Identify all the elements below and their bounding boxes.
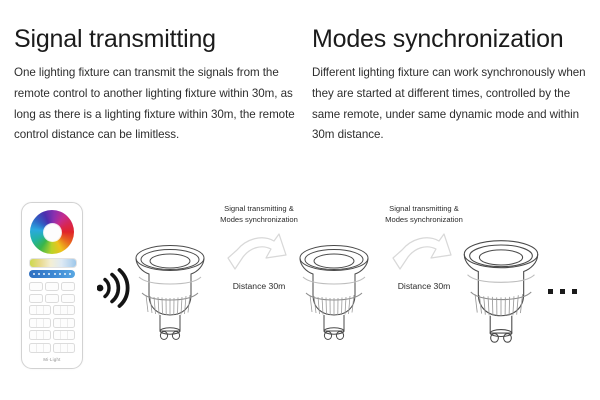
remote-control: Mi·Light bbox=[21, 202, 83, 369]
arrow-label-line2: Modes synchronization bbox=[207, 214, 311, 225]
body-text-modes-synchronization: Different lighting fixture can work sync… bbox=[312, 63, 600, 146]
double-arc-arrow-icon bbox=[207, 231, 311, 278]
color-temperature-slider-icon bbox=[29, 258, 77, 268]
keypad-button bbox=[45, 294, 59, 303]
section-signal-transmitting: Signal transmitting One lighting fixture… bbox=[14, 26, 296, 146]
section-modes-synchronization: Modes synchronization Different lighting… bbox=[312, 26, 600, 146]
color-wheel-center-button bbox=[49, 229, 58, 238]
keypad-zone-button bbox=[53, 343, 75, 353]
keypad-button bbox=[61, 294, 75, 303]
remote-keypad bbox=[28, 282, 76, 355]
keypad-button bbox=[29, 294, 43, 303]
gu10-spot-bulb-1 bbox=[133, 243, 207, 343]
arrow-group-1: Signal transmitting & Modes synchronizat… bbox=[207, 203, 311, 291]
keypad-zone-button bbox=[53, 305, 75, 315]
diagram-canvas: Signal transmitting One lighting fixture… bbox=[0, 0, 600, 400]
page-title-signal-transmitting: Signal transmitting bbox=[14, 26, 296, 52]
keypad-button bbox=[45, 282, 59, 291]
gu10-spot-bulb-2 bbox=[297, 243, 371, 343]
keypad-zone-button bbox=[29, 343, 51, 353]
keypad-zone-button bbox=[29, 305, 51, 315]
keypad-zone-button bbox=[53, 330, 75, 340]
arrow-label-line1: Signal transmitting & bbox=[207, 203, 311, 214]
gu10-spot-bulb-3 bbox=[461, 238, 541, 346]
keypad-zone-button bbox=[53, 318, 75, 328]
keypad-zone-button bbox=[29, 330, 51, 340]
color-wheel-icon bbox=[30, 210, 74, 254]
mode-selector-strip-icon bbox=[29, 270, 75, 278]
page-title-modes-synchronization: Modes synchronization bbox=[312, 26, 600, 52]
brand-logo: Mi·Light bbox=[22, 357, 82, 362]
arrow-label-line2: Modes synchronization bbox=[372, 214, 476, 225]
keypad-button bbox=[29, 282, 43, 291]
keypad-button bbox=[61, 282, 75, 291]
keypad-zone-button bbox=[29, 318, 51, 328]
body-text-signal-transmitting: One lighting fixture can transmit the si… bbox=[14, 63, 296, 146]
continuation-ellipsis bbox=[548, 289, 577, 294]
distance-label-1: Distance 30m bbox=[207, 281, 311, 291]
arrow-label-line1: Signal transmitting & bbox=[372, 203, 476, 214]
